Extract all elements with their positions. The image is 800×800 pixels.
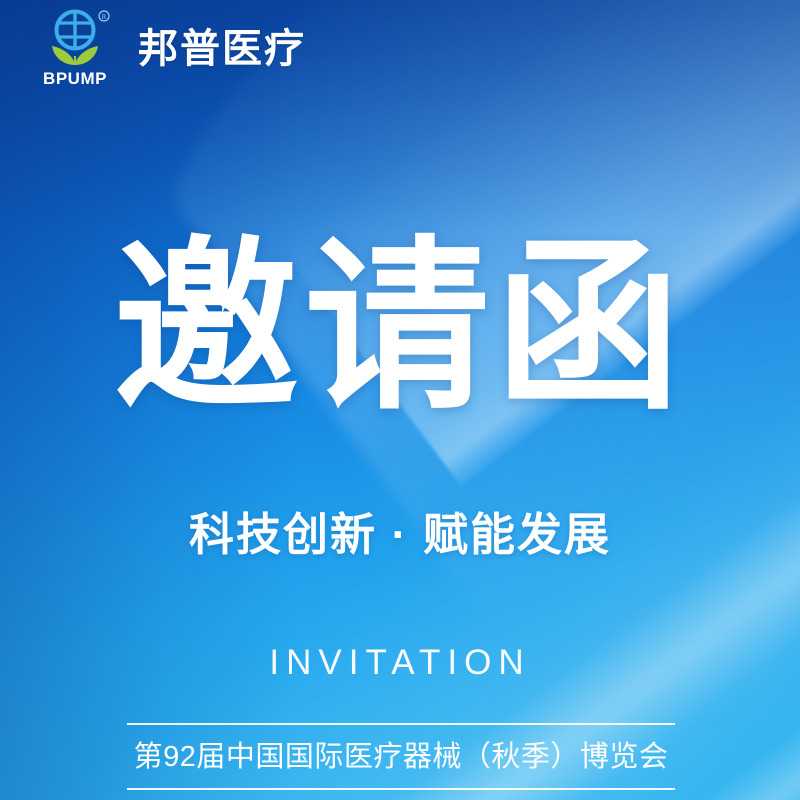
page-title: 邀请函: [0, 236, 800, 421]
bpump-wordmark: BPUMP: [43, 69, 107, 88]
subtitle-slogan: 科技创新 · 赋能发展: [0, 508, 800, 562]
event-name: 第92届中国国际医疗器械（秋季）博览会: [127, 725, 675, 788]
footer-banner: 第92届中国国际医疗器械（秋季）博览会: [127, 723, 675, 790]
bpump-emblem-logo: R BPUMP: [42, 8, 120, 90]
brand-header: R BPUMP 邦普医疗: [42, 8, 306, 90]
invitation-english-label: INVITATION: [0, 645, 800, 680]
footer-rule-bottom: [127, 788, 675, 790]
svg-text:R: R: [102, 13, 107, 21]
diagonal-band-lower-streak: [295, 91, 800, 800]
invitation-poster: R BPUMP 邦普医疗 邀请函 科技创新 · 赋能发展 INVITATION …: [0, 0, 800, 800]
brand-name-chinese: 邦普医疗: [138, 29, 306, 69]
